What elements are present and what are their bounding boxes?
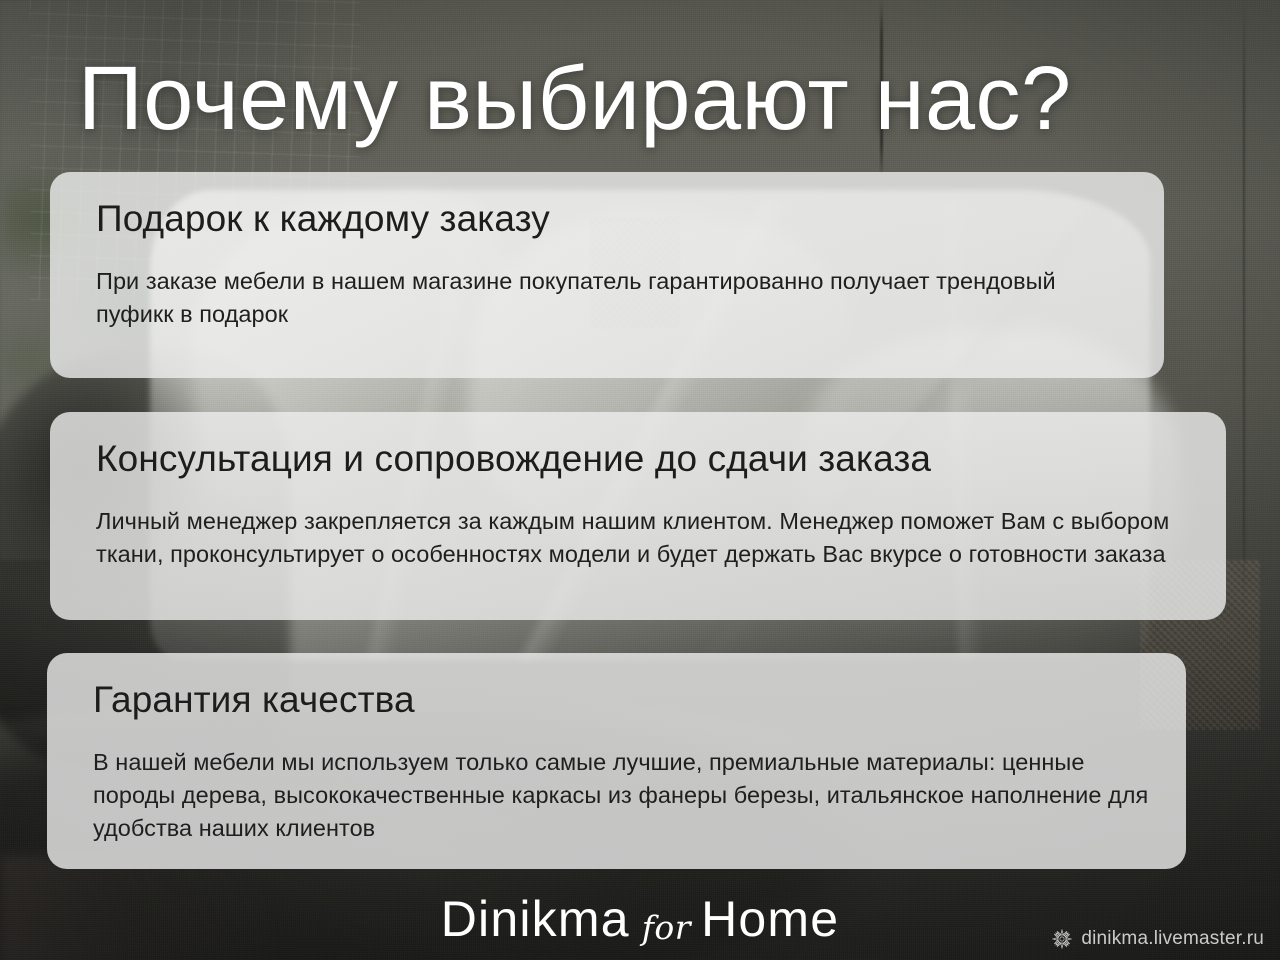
starburst-icon	[1052, 929, 1072, 949]
brand-logo-suffix: Home	[701, 891, 839, 947]
brand-logo-name: Dinikma	[441, 891, 630, 947]
benefit-card-body: Личный менеджер закрепляется за каждым н…	[96, 505, 1192, 571]
slide-content: Почему выбирают нас? Подарок к каждому з…	[0, 0, 1280, 960]
benefit-card-title: Консультация и сопровождение до сдачи за…	[96, 438, 1192, 479]
brand-logo-connector: for	[642, 908, 691, 947]
benefit-card-quality: Гарантия качества В нашей мебели мы испо…	[47, 653, 1186, 869]
benefit-card-consultation: Консультация и сопровождение до сдачи за…	[50, 412, 1226, 620]
benefit-card-title: Гарантия качества	[93, 679, 1152, 720]
benefit-card-body: При заказе мебели в нашем магазине покуп…	[96, 265, 1130, 331]
promo-slide: Почему выбирают нас? Подарок к каждому з…	[0, 0, 1280, 960]
benefit-card-gift: Подарок к каждому заказу При заказе мебе…	[50, 172, 1164, 378]
site-watermark: dinikma.livemaster.ru	[1052, 928, 1264, 950]
benefit-card-body: В нашей мебели мы используем только самы…	[93, 746, 1152, 845]
watermark-label: dinikma.livemaster.ru	[1081, 928, 1264, 950]
benefit-card-title: Подарок к каждому заказу	[96, 198, 1130, 239]
page-title: Почему выбирают нас?	[78, 54, 1072, 144]
